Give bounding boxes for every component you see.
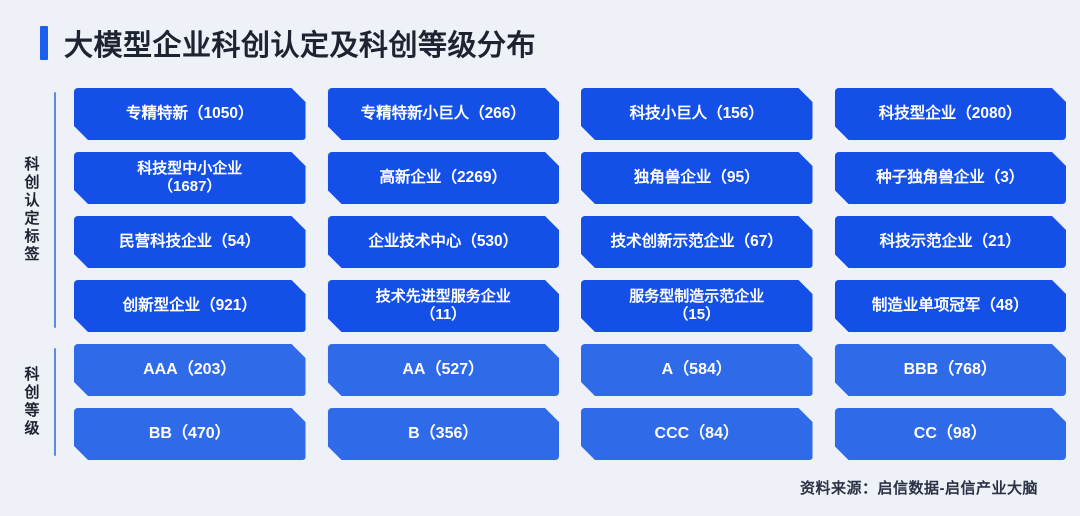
badge-企业技术中心[interactable]: 企业技术中心（530） — [328, 216, 560, 268]
page-title: 大模型企业科创认定及科创等级分布 — [40, 22, 536, 64]
badge-技术创新示范企业[interactable]: 技术创新示范企业（67） — [581, 216, 813, 268]
badge-专精特新[interactable]: 专精特新（1050） — [74, 88, 306, 140]
badge-grid-grade: AAA（203）AA（527）A（584）BBB（768）BB（470）B（35… — [74, 344, 1066, 460]
badge-服务型制造示范企业[interactable]: 服务型制造示范企业（15） — [581, 280, 813, 332]
badge-A[interactable]: A（584） — [581, 344, 813, 396]
section-divider — [54, 92, 56, 328]
badge-科技型中小企业[interactable]: 科技型中小企业（1687） — [74, 152, 306, 204]
badge-CCC[interactable]: CCC（84） — [581, 408, 813, 460]
badge-民营科技企业[interactable]: 民营科技企业（54） — [74, 216, 306, 268]
badge-高新企业[interactable]: 高新企业（2269） — [328, 152, 560, 204]
badge-技术先进型服务企业[interactable]: 技术先进型服务企业（11） — [328, 280, 560, 332]
source-note: 资料来源：启信数据-启信产业大脑 — [800, 477, 1038, 498]
badge-AA[interactable]: AA（527） — [328, 344, 560, 396]
badge-grid-certification: 专精特新（1050）专精特新小巨人（266）科技小巨人（156）科技型企业（20… — [74, 88, 1066, 332]
badge-CC[interactable]: CC（98） — [835, 408, 1067, 460]
section-label-grade: 科创等级 — [14, 344, 48, 460]
badge-创新型企业[interactable]: 创新型企业（921） — [74, 280, 306, 332]
badge-BBB[interactable]: BBB（768） — [835, 344, 1067, 396]
badge-BB[interactable]: BB（470） — [74, 408, 306, 460]
badge-制造业单项冠军[interactable]: 制造业单项冠军（48） — [835, 280, 1067, 332]
section-label-certification: 科创认定标签 — [14, 88, 48, 332]
badge-独角兽企业[interactable]: 独角兽企业（95） — [581, 152, 813, 204]
section-divider — [54, 348, 56, 456]
page-title-text: 大模型企业科创认定及科创等级分布 — [64, 22, 536, 64]
title-accent-bar — [40, 26, 48, 60]
badge-科技示范企业[interactable]: 科技示范企业（21） — [835, 216, 1067, 268]
badge-AAA[interactable]: AAA（203） — [74, 344, 306, 396]
badge-B[interactable]: B（356） — [328, 408, 560, 460]
section-grade: 科创等级 AAA（203）AA（527）A（584）BBB（768）BB（470… — [14, 344, 1066, 460]
section-certification: 科创认定标签 专精特新（1050）专精特新小巨人（266）科技小巨人（156）科… — [14, 88, 1066, 332]
section-label-text: 科创等级 — [24, 366, 39, 438]
badge-科技型企业[interactable]: 科技型企业（2080） — [835, 88, 1067, 140]
badge-专精特新小巨人[interactable]: 专精特新小巨人（266） — [328, 88, 560, 140]
section-label-text: 科创认定标签 — [24, 156, 39, 264]
badge-科技小巨人[interactable]: 科技小巨人（156） — [581, 88, 813, 140]
badge-种子独角兽企业[interactable]: 种子独角兽企业（3） — [835, 152, 1067, 204]
